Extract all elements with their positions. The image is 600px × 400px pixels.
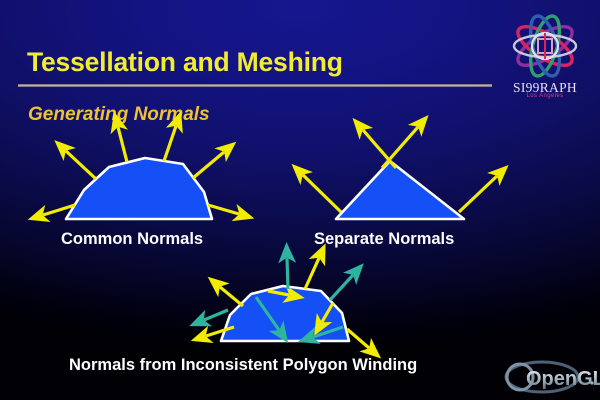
caption-common-normals: Common Normals	[61, 230, 203, 249]
caption-separate-normals: Separate Normals	[314, 230, 454, 249]
caption-inconsistent-winding: Normals from Inconsistent Polygon Windin…	[69, 356, 417, 375]
svg-text:OpenGL: OpenGL	[526, 368, 600, 390]
presentation-slide: Tessellation and Meshing Generating Norm…	[0, 0, 600, 400]
inconsistent-winding-diagram	[0, 0, 600, 400]
opengl-logo-icon: OpenGL	[500, 358, 600, 396]
